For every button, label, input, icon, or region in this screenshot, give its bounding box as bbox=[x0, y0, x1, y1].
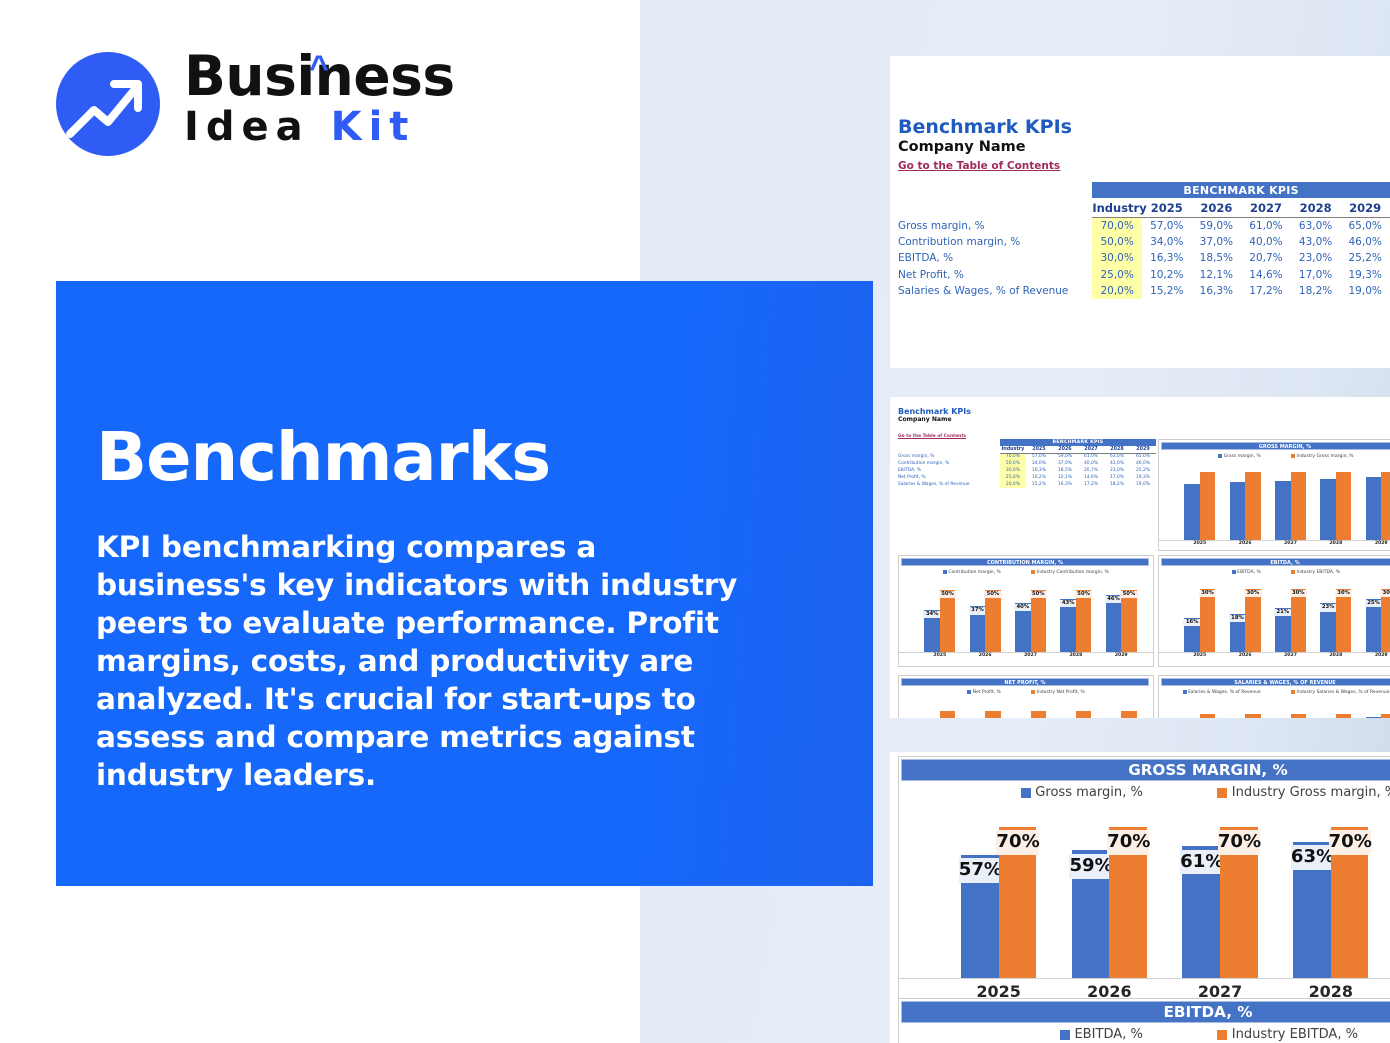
kpi-year-value: 37,0% bbox=[1052, 460, 1078, 467]
chart-title: EBITDA, % bbox=[901, 1001, 1390, 1023]
legend-swatch bbox=[1218, 454, 1222, 458]
table-row: EBITDA, %30,0%16,3%18,5%20,7%23,0%25,2% bbox=[898, 467, 1156, 474]
kpi-year-value: 18,5% bbox=[1192, 250, 1242, 266]
data-label: 21% bbox=[1274, 609, 1291, 616]
bar-2028-industry bbox=[1076, 711, 1091, 718]
x-axis-label: 2027 bbox=[1008, 653, 1053, 658]
data-label: 43% bbox=[1060, 600, 1077, 607]
chart-net-profit[interactable]: NET PROFIT, %Net Profit, %Industry Net P… bbox=[898, 675, 1154, 718]
bar-2029-industry bbox=[1381, 472, 1390, 540]
kpi-header-blank bbox=[898, 201, 1092, 218]
kpi-industry-value: 30,0% bbox=[1000, 467, 1026, 474]
legend-swatch bbox=[1021, 788, 1031, 798]
legend-swatch bbox=[943, 570, 947, 574]
legend-swatch bbox=[1291, 690, 1295, 694]
kpi-year-value: 63,0% bbox=[1291, 218, 1341, 234]
legend-item: Gross margin, % bbox=[1021, 785, 1143, 800]
kpi-row-label: Net Profit, % bbox=[898, 267, 1092, 283]
kpi-year-value: 34,0% bbox=[1142, 234, 1192, 250]
legend-label: Gross margin, % bbox=[1224, 454, 1261, 459]
legend-label: EBITDA, % bbox=[1074, 1027, 1142, 1042]
bar-2029-company bbox=[1366, 477, 1381, 540]
legend-swatch bbox=[967, 690, 971, 694]
kpi-banner-label: BENCHMARK KPIS bbox=[1000, 439, 1156, 446]
kpi-row-label: Salaries & Wages, % of Revenue bbox=[898, 481, 1000, 488]
hero-description: KPI benchmarking compares a business's k… bbox=[96, 528, 776, 794]
kpi-year-value: 19,3% bbox=[1130, 474, 1156, 481]
kpi-column-header: Industry bbox=[1092, 201, 1142, 218]
kpi-spacer-cell bbox=[898, 439, 1000, 446]
bar-2028-industry bbox=[1076, 590, 1091, 652]
page-title: Benchmarks bbox=[96, 421, 550, 493]
legend-item: Industry EBITDA, % bbox=[1217, 1027, 1358, 1042]
x-axis-label: 2029 bbox=[1099, 653, 1144, 658]
legend-item: Industry Gross margin, % bbox=[1217, 785, 1390, 800]
chart-title: EBITDA, % bbox=[1161, 558, 1390, 566]
data-label: 30% bbox=[1199, 590, 1216, 597]
chart-title: SALARIES & WAGES, % OF REVENUE bbox=[1161, 678, 1390, 686]
sheet-title: Benchmark KPIs bbox=[898, 407, 971, 416]
legend-item: Industry Net Profit, % bbox=[1031, 690, 1084, 695]
kpi-year-value: 19,0% bbox=[1340, 283, 1390, 299]
chart-legend: Gross margin, %Industry Gross margin, % bbox=[1159, 452, 1390, 460]
chart-plot-area bbox=[1159, 462, 1390, 540]
sheet-subtitle: Company Name bbox=[898, 416, 971, 424]
chart-legend: Contribution margin, %Industry Contribut… bbox=[899, 568, 1153, 576]
legend-label: Industry EBITDA, % bbox=[1232, 1027, 1358, 1042]
sheet-title: Benchmark KPIs bbox=[898, 116, 1072, 138]
table-row: Contribution margin, %50,0%34,0%37,0%40,… bbox=[898, 234, 1390, 250]
x-axis-label: 2027 bbox=[1268, 653, 1313, 658]
bar-2028-industry bbox=[1336, 589, 1351, 652]
legend-label: Industry Net Profit, % bbox=[1037, 690, 1085, 695]
kpi-industry-value: 25,0% bbox=[1092, 267, 1142, 283]
data-label: 18% bbox=[1229, 615, 1246, 622]
legend-label: Industry EBITDA, % bbox=[1297, 570, 1341, 575]
legend-item: Industry Gross margin, % bbox=[1291, 454, 1353, 459]
kpi-table: BENCHMARK KPISIndustry202520262027202820… bbox=[898, 182, 1390, 299]
kpi-year-value: 25,2% bbox=[1130, 467, 1156, 474]
kpi-year-value: 43,0% bbox=[1104, 460, 1130, 467]
kpi-year-value: 17,2% bbox=[1241, 283, 1291, 299]
kpi-row-label: Net Profit, % bbox=[898, 474, 1000, 481]
kpi-year-value: 14,6% bbox=[1078, 474, 1104, 481]
kpi-year-value: 25,2% bbox=[1340, 250, 1390, 266]
legend-label: Industry Gross margin, % bbox=[1232, 785, 1390, 800]
kpi-year-value: 20,7% bbox=[1241, 250, 1291, 266]
bar-2027-industry bbox=[1291, 714, 1306, 718]
x-axis-label: 2028 bbox=[1053, 653, 1098, 658]
bar-2029-industry bbox=[1381, 589, 1390, 652]
kpi-year-value: 10,2% bbox=[1142, 267, 1192, 283]
x-axis-label: 2029 bbox=[1359, 653, 1390, 658]
x-axis-label: 2025 bbox=[1177, 541, 1222, 546]
legend-swatch bbox=[1183, 690, 1187, 694]
kpi-year-value: 59,0% bbox=[1052, 453, 1078, 460]
kpi-industry-value: 50,0% bbox=[1000, 460, 1026, 467]
bar-2026-industry bbox=[985, 711, 1000, 718]
data-label: 50% bbox=[1075, 591, 1092, 598]
kpi-row-label: Contribution margin, % bbox=[898, 234, 1092, 250]
chart-legend: Gross margin, %Industry Gross margin, % bbox=[899, 783, 1390, 803]
legend-swatch bbox=[1232, 570, 1236, 574]
logo-line-kit: Kit bbox=[331, 104, 416, 150]
table-of-contents-link[interactable]: Go to the Table of Contents bbox=[898, 159, 1060, 173]
data-label: 61% bbox=[1180, 850, 1222, 874]
kpi-row-label: Gross margin, % bbox=[898, 218, 1092, 234]
table-row: Salaries & Wages, % of Revenue20,0%15,2%… bbox=[898, 481, 1156, 488]
bar-2027-company bbox=[1275, 481, 1290, 540]
legend-item: Industry EBITDA, % bbox=[1291, 570, 1340, 575]
kpi-year-value: 17,0% bbox=[1291, 267, 1341, 283]
legend-swatch bbox=[1217, 1030, 1227, 1040]
legend-swatch bbox=[1217, 788, 1227, 798]
kpi-row-label: Contribution margin, % bbox=[898, 460, 1000, 467]
chart-ebitda[interactable]: EBITDA, %EBITDA, %Industry EBITDA, %16%3… bbox=[1158, 555, 1390, 667]
chart-plot-area bbox=[1159, 698, 1390, 718]
data-label: 34% bbox=[923, 611, 940, 618]
kpi-year-value: 46,0% bbox=[1340, 234, 1390, 250]
bar-2026-industry bbox=[1245, 472, 1260, 540]
kpi-year-value: 12,1% bbox=[1192, 267, 1242, 283]
bar-2025-company bbox=[1184, 484, 1199, 540]
x-axis-label: 2028 bbox=[1313, 653, 1358, 658]
kpi-spacer-cell bbox=[898, 182, 1092, 198]
kpi-year-value: 57,0% bbox=[1142, 218, 1192, 234]
data-label: 70% bbox=[1329, 830, 1371, 854]
kpi-year-value: 15,2% bbox=[1142, 283, 1192, 299]
bar-2027-industry bbox=[1291, 589, 1306, 652]
bar-2026-industry bbox=[1245, 714, 1260, 718]
bar-2027-industry bbox=[1291, 472, 1306, 540]
kpi-year-value: 18,5% bbox=[1052, 467, 1078, 474]
x-axis-label: 2026 bbox=[963, 653, 1008, 658]
legend-swatch bbox=[1031, 570, 1035, 574]
chart-legend: Salaries & Wages, % of RevenueIndustry S… bbox=[1159, 688, 1390, 696]
legend-item: Salaries & Wages, % of Revenue bbox=[1183, 690, 1261, 695]
table-row: Net Profit, %25,0%10,2%12,1%14,6%17,0%19… bbox=[898, 267, 1390, 283]
kpi-year-value: 20,7% bbox=[1078, 467, 1104, 474]
bar-2029-industry bbox=[1121, 711, 1136, 718]
bar-2029-company bbox=[1106, 595, 1121, 652]
data-label: 30% bbox=[1380, 590, 1390, 597]
x-axis-label: 2027 bbox=[1268, 541, 1313, 546]
x-axis-label: 2026 bbox=[1223, 653, 1268, 658]
table-row: Gross margin, %70,0%57,0%59,0%61,0%63,0%… bbox=[898, 453, 1156, 460]
kpi-industry-value: 50,0% bbox=[1092, 234, 1142, 250]
kpi-year-value: 15,2% bbox=[1026, 481, 1052, 488]
legend-swatch bbox=[1291, 570, 1295, 574]
table-row: EBITDA, %30,0%16,3%18,5%20,7%23,0%25,2% bbox=[898, 250, 1390, 266]
data-label: 57% bbox=[959, 858, 1001, 882]
kpi-year-value: 40,0% bbox=[1078, 460, 1104, 467]
kpi-year-value: 16,3% bbox=[1052, 481, 1078, 488]
brand-logo: Business Idea Kit ^ bbox=[56, 46, 456, 164]
kpi-year-value: 17,0% bbox=[1104, 474, 1130, 481]
kpi-industry-value: 25,0% bbox=[1000, 474, 1026, 481]
kpi-year-value: 23,0% bbox=[1104, 467, 1130, 474]
legend-label: Net Profit, % bbox=[973, 690, 1001, 695]
legend-item: Industry Salaries & Wages, % of Revenue bbox=[1291, 690, 1389, 695]
kpi-column-header: 2026 bbox=[1192, 201, 1242, 218]
legend-label: Contribution margin, % bbox=[948, 570, 1000, 575]
spreadsheet-panel-middle[interactable]: Benchmark KPIsCompany NameGo to the Tabl… bbox=[890, 397, 1390, 718]
chart-salaries-wages-of-revenue[interactable]: SALARIES & WAGES, % OF REVENUESalaries &… bbox=[1158, 675, 1390, 718]
kpi-row-label: EBITDA, % bbox=[898, 250, 1092, 266]
legend-item: EBITDA, % bbox=[1232, 570, 1261, 575]
data-label: 30% bbox=[1244, 590, 1261, 597]
x-axis-label: 2025 bbox=[1177, 653, 1222, 658]
bar-2027-industry bbox=[1031, 590, 1046, 652]
kpi-year-value: 43,0% bbox=[1291, 234, 1341, 250]
bar-2025-industry bbox=[1200, 714, 1215, 718]
kpi-year-value: 61,0% bbox=[1241, 218, 1291, 234]
kpi-year-value: 19,0% bbox=[1130, 481, 1156, 488]
bar-2029-company bbox=[1366, 717, 1381, 718]
kpi-industry-value: 70,0% bbox=[1000, 453, 1026, 460]
kpi-year-value: 59,0% bbox=[1192, 218, 1242, 234]
hero-panel: Benchmarks KPI benchmarking compares a b… bbox=[56, 281, 873, 886]
chart-plot-area bbox=[899, 698, 1153, 718]
legend-item: Industry Contribution margin, % bbox=[1031, 570, 1109, 575]
bar-2025-industry bbox=[1200, 472, 1215, 540]
sheet-header: Benchmark KPIsCompany NameGo to the Tabl… bbox=[898, 116, 1072, 174]
sheet-subtitle: Company Name bbox=[898, 138, 1072, 156]
kpi-industry-value: 20,0% bbox=[1092, 283, 1142, 299]
table-row: Contribution margin, %50,0%34,0%37,0%40,… bbox=[898, 460, 1156, 467]
kpi-year-value: 65,0% bbox=[1340, 218, 1390, 234]
x-axis-label: 2029 bbox=[1359, 541, 1390, 546]
legend-label: Salaries & Wages, % of Revenue bbox=[1188, 690, 1261, 695]
legend-item: Gross margin, % bbox=[1218, 454, 1260, 459]
legend-label: Gross margin, % bbox=[1035, 785, 1143, 800]
kpi-banner-row: BENCHMARK KPIS bbox=[898, 439, 1156, 446]
kpi-year-value: 19,3% bbox=[1340, 267, 1390, 283]
kpi-year-value: 14,6% bbox=[1241, 267, 1291, 283]
x-axis-label: 2026 bbox=[1223, 541, 1268, 546]
table-row: Salaries & Wages, % of Revenue20,0%15,2%… bbox=[898, 283, 1390, 299]
bar-2025-industry bbox=[940, 711, 955, 718]
data-label: 37% bbox=[969, 607, 986, 614]
data-label: 50% bbox=[1030, 591, 1047, 598]
kpi-year-value: 37,0% bbox=[1192, 234, 1242, 250]
legend-swatch bbox=[1291, 454, 1295, 458]
logo-line-idea: Idea bbox=[184, 104, 310, 150]
data-label: 63% bbox=[1291, 845, 1333, 869]
kpi-year-value: 17,2% bbox=[1078, 481, 1104, 488]
bar-2025-industry bbox=[940, 590, 955, 652]
kpi-year-value: 23,0% bbox=[1291, 250, 1341, 266]
x-axis-label: 2025 bbox=[917, 653, 962, 658]
data-label: 50% bbox=[984, 591, 1001, 598]
growth-arrow-icon bbox=[56, 52, 160, 156]
x-axis-label: 2028 bbox=[1313, 541, 1358, 546]
chart-legend: EBITDA, %Industry EBITDA, % bbox=[1159, 568, 1390, 576]
data-label: 30% bbox=[1290, 590, 1307, 597]
bar-2028-industry bbox=[1336, 714, 1351, 718]
bar-2028-industry bbox=[1336, 472, 1351, 540]
chart-plot-area: 34%50%37%50%40%50%43%50%46%50% bbox=[899, 578, 1153, 652]
chart-legend: Net Profit, %Industry Net Profit, % bbox=[899, 688, 1153, 696]
data-label: 70% bbox=[1218, 830, 1260, 854]
spreadsheet-panel-bottom[interactable]: GROSS MARGIN, %Gross margin, %Industry G… bbox=[890, 752, 1390, 1043]
kpi-table: BENCHMARK KPISIndustry202520262027202820… bbox=[898, 439, 1156, 488]
bar-2029-industry bbox=[1121, 590, 1136, 652]
legend-item: EBITDA, % bbox=[1060, 1027, 1143, 1042]
data-label: 50% bbox=[939, 591, 956, 598]
chart-gross-margin[interactable]: GROSS MARGIN, %Gross margin, %Industry G… bbox=[898, 756, 1390, 1006]
spreadsheet-panel-top[interactable]: Benchmark KPIsCompany NameGo to the Tabl… bbox=[890, 56, 1390, 368]
kpi-column-header: 2027 bbox=[1241, 201, 1291, 218]
kpi-column-header: 2028 bbox=[1291, 201, 1341, 218]
kpi-year-value: 12,1% bbox=[1052, 474, 1078, 481]
chart-ebitda[interactable]: EBITDA, %EBITDA, %Industry EBITDA, %16%3… bbox=[898, 998, 1390, 1043]
data-label: 70% bbox=[1107, 830, 1149, 854]
kpi-row-label: EBITDA, % bbox=[898, 467, 1000, 474]
chart-plot-area: 16%30%18%30%21%30%23%30%25%30% bbox=[1159, 578, 1390, 652]
sheet-header: Benchmark KPIsCompany NameGo to the Tabl… bbox=[898, 407, 971, 442]
data-label: 50% bbox=[1120, 591, 1137, 598]
data-label: 25% bbox=[1365, 600, 1382, 607]
kpi-year-value: 63,0% bbox=[1104, 453, 1130, 460]
kpi-industry-value: 70,0% bbox=[1092, 218, 1142, 234]
kpi-row-label: Salaries & Wages, % of Revenue bbox=[898, 283, 1092, 299]
kpi-column-header: 2025 bbox=[1142, 201, 1192, 218]
chart-gross-margin[interactable]: GROSS MARGIN, %Gross margin, %Industry G… bbox=[1158, 439, 1390, 551]
bar-2028-company bbox=[1320, 479, 1335, 540]
chart-title: CONTRIBUTION MARGIN, % bbox=[901, 558, 1149, 566]
legend-item: Net Profit, % bbox=[967, 690, 1000, 695]
chart-contribution-margin[interactable]: CONTRIBUTION MARGIN, %Contribution margi… bbox=[898, 555, 1154, 667]
kpi-industry-value: 20,0% bbox=[1000, 481, 1026, 488]
data-label: 23% bbox=[1320, 604, 1337, 611]
data-label: 16% bbox=[1183, 619, 1200, 626]
bar-2029-industry bbox=[1381, 714, 1390, 718]
chart-plot-area: 57%70%59%70%61%70%63%70%65%70% bbox=[899, 805, 1390, 978]
kpi-banner-label: BENCHMARK KPIS bbox=[1092, 182, 1390, 198]
circumflex-accent-icon: ^ bbox=[309, 49, 329, 88]
kpi-year-value: 18,2% bbox=[1104, 481, 1130, 488]
legend-label: EBITDA, % bbox=[1237, 570, 1261, 575]
chart-x-axis bbox=[899, 978, 1390, 979]
kpi-row-label: Gross margin, % bbox=[898, 453, 1000, 460]
kpi-year-value: 46,0% bbox=[1130, 460, 1156, 467]
table-row: Gross margin, %70,0%57,0%59,0%61,0%63,0%… bbox=[898, 218, 1390, 234]
kpi-year-value: 16,3% bbox=[1026, 467, 1052, 474]
bar-2026-industry bbox=[985, 590, 1000, 652]
legend-swatch bbox=[1031, 690, 1035, 694]
kpi-year-value: 10,2% bbox=[1026, 474, 1052, 481]
bar-2027-industry bbox=[1031, 711, 1046, 718]
kpi-year-value: 57,0% bbox=[1026, 453, 1052, 460]
chart-legend: EBITDA, %Industry EBITDA, % bbox=[899, 1025, 1390, 1043]
kpi-banner-row: BENCHMARK KPIS bbox=[898, 182, 1390, 198]
kpi-year-value: 65,0% bbox=[1130, 453, 1156, 460]
kpi-column-header: 2029 bbox=[1340, 201, 1390, 218]
chart-title: GROSS MARGIN, % bbox=[1161, 442, 1390, 450]
kpi-industry-value: 30,0% bbox=[1092, 250, 1142, 266]
kpi-year-value: 40,0% bbox=[1241, 234, 1291, 250]
data-label: 59% bbox=[1069, 854, 1111, 878]
legend-label: Industry Contribution margin, % bbox=[1037, 570, 1109, 575]
legend-label: Industry Salaries & Wages, % of Revenue bbox=[1297, 690, 1390, 695]
kpi-year-value: 18,2% bbox=[1291, 283, 1341, 299]
table-row: Net Profit, %25,0%10,2%12,1%14,6%17,0%19… bbox=[898, 474, 1156, 481]
kpi-year-value: 16,3% bbox=[1142, 250, 1192, 266]
chart-title: NET PROFIT, % bbox=[901, 678, 1149, 686]
kpi-year-value: 61,0% bbox=[1078, 453, 1104, 460]
bar-2026-company bbox=[1230, 482, 1245, 540]
legend-item: Contribution margin, % bbox=[943, 570, 1001, 575]
kpi-year-value: 34,0% bbox=[1026, 460, 1052, 467]
bar-2025-industry bbox=[1200, 589, 1215, 652]
data-label: 70% bbox=[996, 830, 1038, 854]
legend-label: Industry Gross margin, % bbox=[1297, 454, 1354, 459]
chart-title: GROSS MARGIN, % bbox=[901, 759, 1390, 781]
legend-swatch bbox=[1060, 1030, 1070, 1040]
bar-2026-industry bbox=[1245, 589, 1260, 652]
kpi-year-value: 16,3% bbox=[1192, 283, 1242, 299]
kpi-header-row: Industry20252026202720282029 bbox=[898, 201, 1390, 218]
data-label: 40% bbox=[1014, 604, 1031, 611]
data-label: 30% bbox=[1335, 590, 1352, 597]
